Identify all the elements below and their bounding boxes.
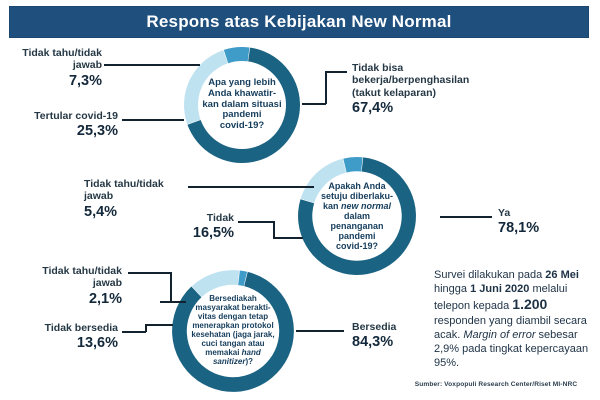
donut-slice xyxy=(172,272,294,392)
leader-line-willing-dontknow-v xyxy=(170,272,172,302)
value-worry-infected: 25,3% xyxy=(8,123,118,140)
leader-line-agree-no-h1 xyxy=(238,221,274,223)
donut-chart-willing: Bersediakahmasyarakat berakti-vitas deng… xyxy=(170,268,296,394)
leader-line-willing-dontknow-h2 xyxy=(160,301,186,303)
label-worry-work-line1: Tidak bisa xyxy=(352,62,532,74)
label-willing-yes: Bersedia 84,3% xyxy=(352,321,432,351)
label-agree-no: Tidak 16,5% xyxy=(152,212,234,242)
label-worry-dontknow-line1: Tidak tahu/tidak xyxy=(8,47,102,59)
label-worry-dontknow-line2: jawab xyxy=(8,59,102,71)
infographic-canvas: Respons atas Kebijakan New Normal Apa ya… xyxy=(0,0,600,400)
leader-line-agree-no-v xyxy=(273,221,275,238)
donut-chart-worry: Apa yang lebihAnda khawatir-kan dalam si… xyxy=(182,45,302,165)
label-willing-yes-line1: Bersedia xyxy=(352,321,432,333)
label-willing-no-line1: Tidak bersedia xyxy=(14,322,118,334)
page-title-bar: Respons atas Kebijakan New Normal xyxy=(10,7,588,37)
source-credit: Sumber: Voxpopuli Research Center/Riset … xyxy=(398,381,594,388)
label-agree-no-line1: Tidak xyxy=(152,212,234,224)
label-agree-yes: Ya 78,1% xyxy=(498,207,578,237)
leader-line-agree-yes xyxy=(440,216,492,218)
note-date-start: 26 Mei xyxy=(545,269,579,281)
leader-line-worry-work-h1 xyxy=(302,103,326,105)
value-agree-yes: 78,1% xyxy=(498,220,578,237)
donut-svg-worry xyxy=(182,45,302,165)
leader-line-willing-no-h2 xyxy=(145,324,173,326)
note-date-end: 1 Juni 2020 xyxy=(470,283,529,295)
leader-line-worry-work-h2 xyxy=(325,71,347,73)
donut-slice xyxy=(224,47,250,63)
label-willing-dontknow: Tidak tahu/tidak jawab 2,1% xyxy=(18,265,122,308)
leader-line-willing-no-h1 xyxy=(122,331,146,333)
donut-chart-agree: Apakah Andasetuju diberlaku-kan new norm… xyxy=(296,155,418,277)
value-willing-yes: 84,3% xyxy=(352,334,432,351)
label-worry-infected-line1: Tertular covid-19 xyxy=(8,110,118,122)
donut-slice xyxy=(301,159,346,203)
note-part-2: hingga xyxy=(434,283,470,295)
value-agree-no: 16,5% xyxy=(152,225,234,242)
label-worry-infected: Tertular covid-19 25,3% xyxy=(8,110,118,140)
label-agree-dontknow-line1: Tidak tahu/tidak xyxy=(84,178,188,190)
value-willing-dontknow: 2,1% xyxy=(18,291,122,308)
label-worry-work-line3: (takut kelaparan) xyxy=(352,87,532,99)
leader-line-willing-dontknow-h1 xyxy=(128,272,172,274)
note-margin-of-error-term: Margin of error xyxy=(463,329,535,341)
label-willing-no: Tidak bersedia 13,6% xyxy=(14,322,118,352)
leader-line-worry-dontknow xyxy=(104,64,200,66)
leader-line-agree-dontknow xyxy=(188,186,314,188)
label-agree-dontknow-line2: jawab xyxy=(84,190,188,202)
value-willing-no: 13,6% xyxy=(14,335,118,352)
label-agree-yes-line1: Ya xyxy=(498,207,578,219)
value-worry-work: 67,4% xyxy=(352,100,532,117)
note-respondent-count: 1.200 xyxy=(512,296,547,312)
leader-line-agree-no-h2 xyxy=(273,237,303,239)
donut-slice xyxy=(192,270,239,297)
survey-methodology-note: Survei dilakukan pada 26 Mei hingga 1 Ju… xyxy=(434,268,594,370)
value-worry-dontknow: 7,3% xyxy=(8,73,102,90)
leader-line-worry-infected xyxy=(122,119,184,121)
label-willing-dontknow-line2: jawab xyxy=(18,277,122,289)
label-worry-work: Tidak bisa bekerja/berpenghasilan (takut… xyxy=(352,62,532,117)
page-title: Respons atas Kebijakan New Normal xyxy=(146,12,451,32)
leader-line-worry-work-v xyxy=(325,71,327,104)
label-worry-dontknow: Tidak tahu/tidak jawab 7,3% xyxy=(8,47,102,90)
label-willing-dontknow-line1: Tidak tahu/tidak xyxy=(18,265,122,277)
donut-slice xyxy=(343,157,362,172)
donut-slice xyxy=(184,50,228,124)
note-part-1: Survei dilakukan pada xyxy=(434,269,545,281)
donut-svg-agree xyxy=(296,155,418,277)
donut-svg-willing xyxy=(170,268,296,394)
leader-line-willing-yes xyxy=(296,330,344,332)
label-worry-work-line2: bekerja/berpenghasilan xyxy=(352,74,532,86)
